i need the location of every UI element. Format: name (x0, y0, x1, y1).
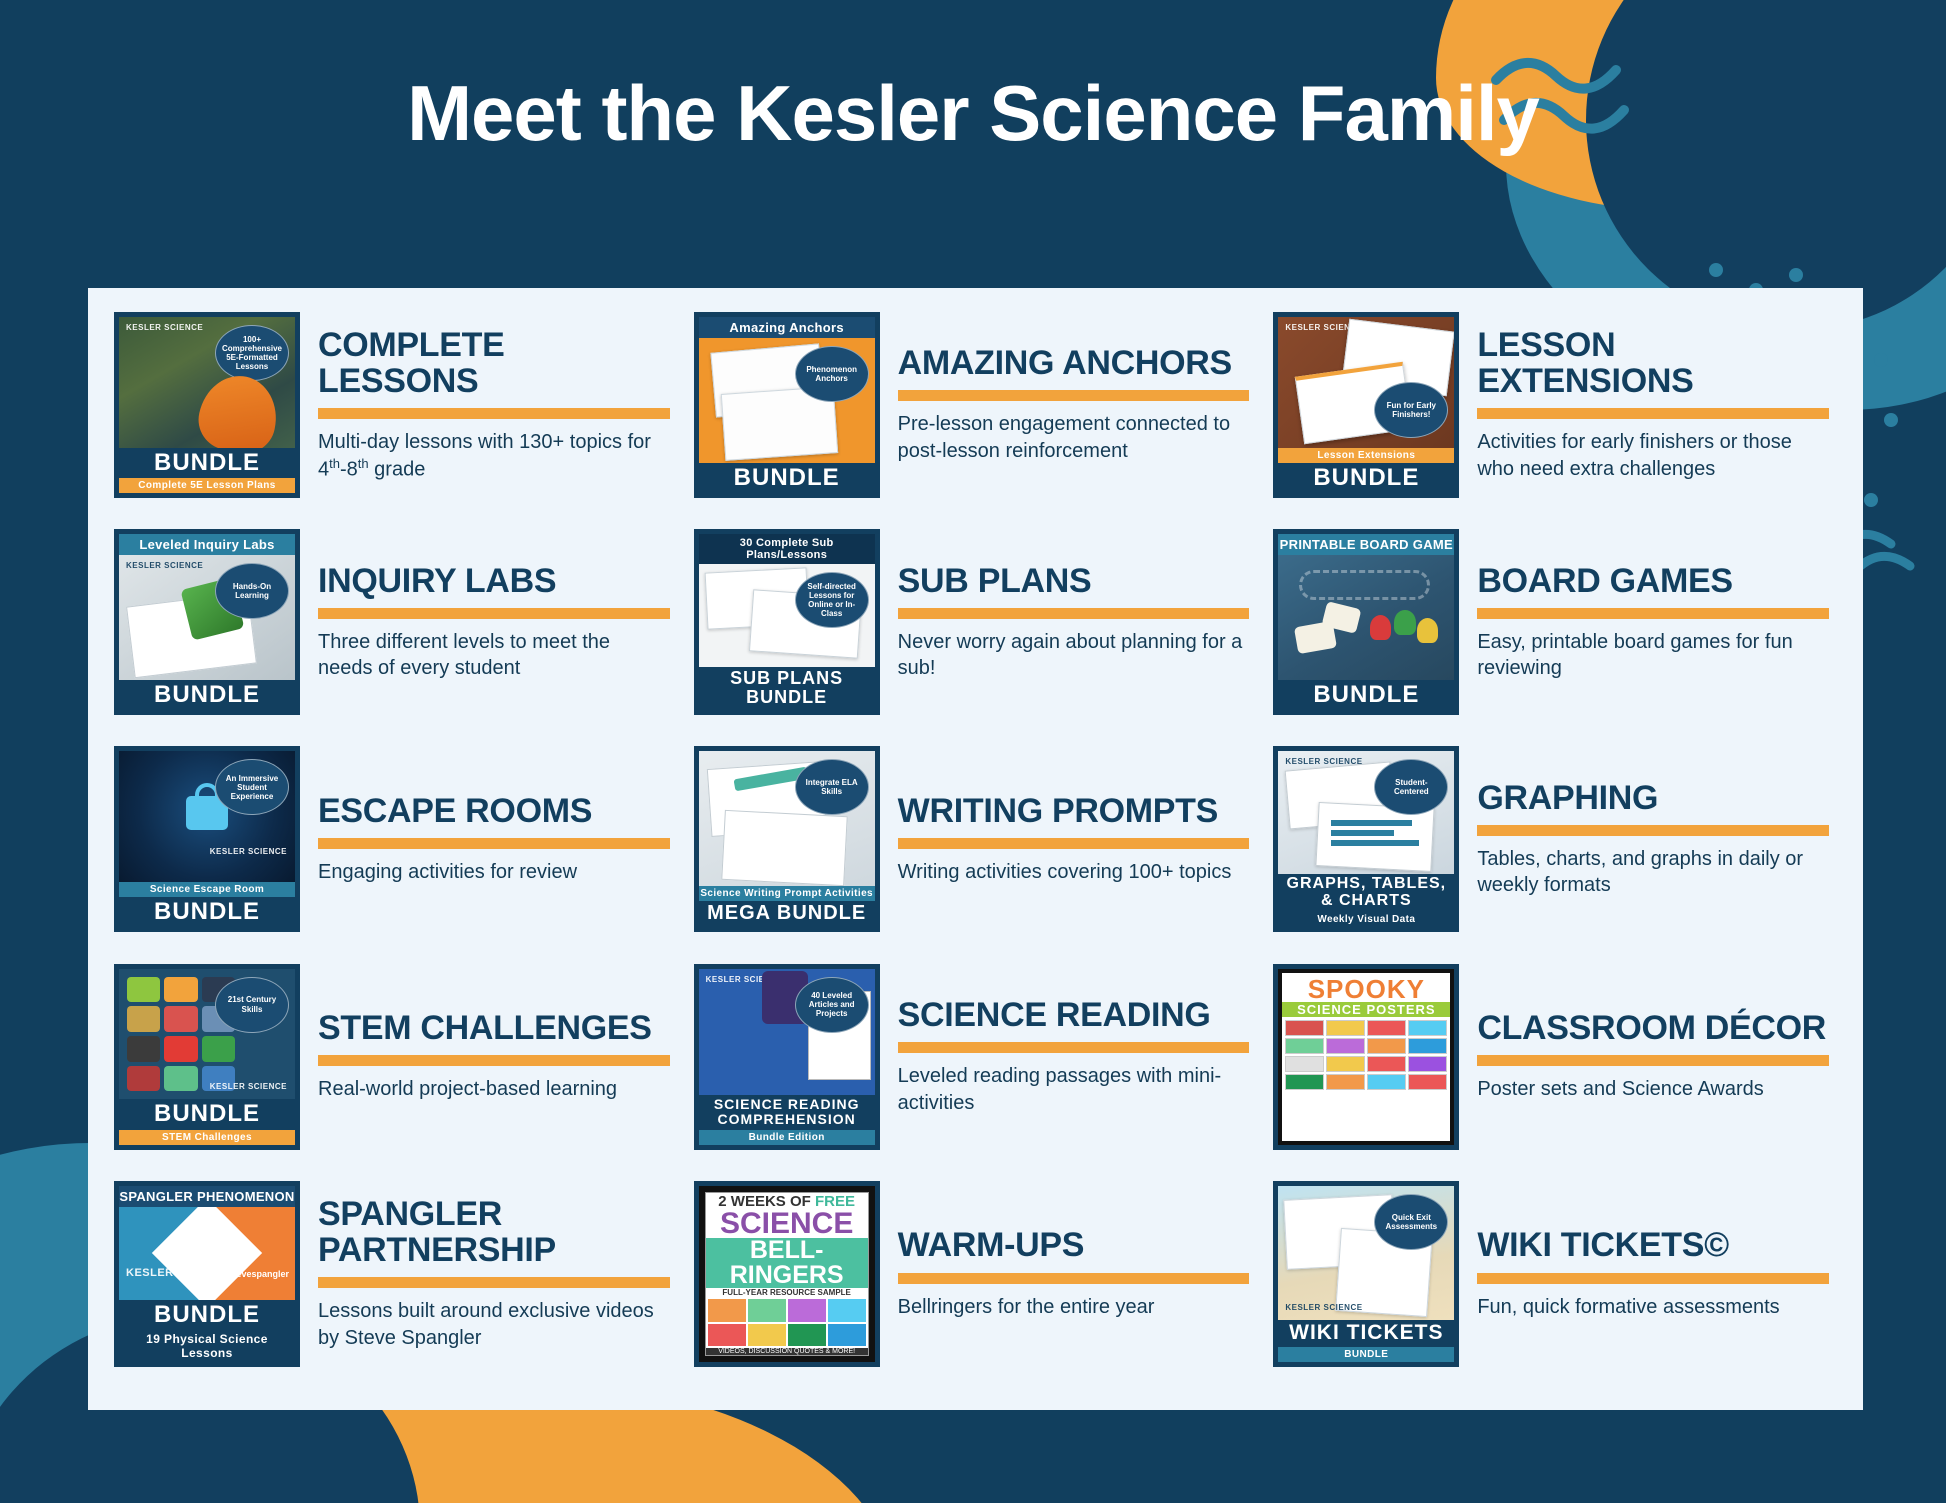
accent-rule (1477, 608, 1829, 619)
thumbnail-artwork: 21st Century Skills KESLER SCIENCE (119, 969, 295, 1100)
thumbnail-band-label: WIKI TICKETS (1278, 1320, 1454, 1347)
product-description: Multi-day lessons with 130+ topics for 4… (318, 429, 670, 484)
thumbnail-badge: 100+ Comprehensive 5E-Formatted Lessons (215, 325, 289, 381)
product-item-classroom-decor[interactable]: SPOOKY SCIENCE POSTERS CLASSROOM DÉCOR (1269, 958, 1833, 1175)
thumbnail-artwork: Integrate ELA Skills (699, 751, 875, 886)
thumbnail-band-label: BUNDLE (119, 897, 295, 927)
thumbnail-artwork (1278, 555, 1454, 680)
thumbnail-band-label: BUNDLE (1278, 463, 1454, 493)
thumbnail-band-label: MEGA BUNDLE (699, 901, 875, 927)
thumbnail-artwork: Phenomenon Anchors (699, 338, 875, 463)
product-item-complete-lessons[interactable]: KESLER SCIENCE 100+ Comprehensive 5E-For… (110, 306, 674, 523)
thumbnail-badge: Hands-On Learning (215, 563, 289, 619)
thumbnail-badge: 21st Century Skills (215, 977, 289, 1033)
thumbnail-badge: Self-directed Lessons for Online or In-C… (795, 572, 869, 628)
product-description: Three different levels to meet the needs… (318, 629, 670, 682)
kesler-science-logo-icon: KESLER SCIENCE (210, 848, 287, 856)
accent-rule (318, 1277, 670, 1288)
product-title: INQUIRY LABS (318, 563, 670, 599)
product-text: WIKI TICKETS© Fun, quick formative asses… (1477, 1181, 1829, 1367)
product-grid: KESLER SCIENCE 100+ Comprehensive 5E-For… (88, 288, 1863, 1410)
product-item-inquiry-labs[interactable]: Leveled Inquiry Labs KESLER SCIENCE Hand… (110, 523, 674, 740)
accent-rule (318, 838, 670, 849)
product-description: Fun, quick formative assessments (1477, 1294, 1829, 1321)
product-family-panel: KESLER SCIENCE 100+ Comprehensive 5E-For… (88, 288, 1863, 1410)
thumbnail-band-label: BUNDLE (1278, 680, 1454, 710)
product-item-writing-prompts[interactable]: Integrate ELA Skills Science Writing Pro… (690, 740, 1254, 957)
accent-rule (898, 390, 1250, 401)
thumbnail-band-label: BUNDLE (119, 680, 295, 710)
thumbnail-badge: An Immersive Student Experience (215, 759, 289, 815)
thumbnail-artwork: An Immersive Student Experience KESLER S… (119, 751, 295, 882)
product-title: SPANGLER PARTNERSHIP (318, 1196, 670, 1268)
product-item-board-games[interactable]: PRINTABLE BOARD GAME BUNDLE BOARD GAMES … (1269, 523, 1833, 740)
product-title: WRITING PROMPTS (898, 793, 1250, 829)
thumbnail-artwork: KESLER SCIENCE Student-Centered (1278, 751, 1454, 873)
thumbnail-warm-ups[interactable]: 2 WEEKS OF FREE SCIENCE BELL-RINGERS FUL… (694, 1181, 880, 1367)
product-title: CLASSROOM DÉCOR (1477, 1010, 1829, 1046)
accent-rule (898, 608, 1250, 619)
thumbnail-board-games[interactable]: PRINTABLE BOARD GAME BUNDLE (1273, 529, 1459, 715)
product-title: GRAPHING (1477, 780, 1829, 816)
product-description: Poster sets and Science Awards (1477, 1076, 1829, 1103)
accent-rule (318, 608, 670, 619)
thumbnail-sub-label: Lesson Extensions (1278, 448, 1454, 463)
product-description: Lessons built around exclusive videos by… (318, 1298, 670, 1351)
thumbnail-sub-label: Weekly Visual Data (1278, 912, 1454, 927)
product-text: ESCAPE ROOMS Engaging activities for rev… (318, 746, 670, 932)
accent-rule (898, 1273, 1250, 1284)
thumbnail-writing-prompts[interactable]: Integrate ELA Skills Science Writing Pro… (694, 746, 880, 932)
thumbnail-wiki-tickets[interactable]: Quick Exit Assessments KESLER SCIENCE WI… (1273, 1181, 1459, 1367)
thumbnail-artwork: Quick Exit Assessments KESLER SCIENCE (1278, 1186, 1454, 1320)
kesler-science-logo-icon: KESLER SCIENCE (126, 324, 203, 332)
thumbnail-sub-label: 19 Physical Science Lessons (119, 1330, 295, 1362)
product-item-graphing[interactable]: KESLER SCIENCE Student-Centered GRAPHS, … (1269, 740, 1833, 957)
thumbnail-sub-label: BUNDLE (1278, 1347, 1454, 1362)
product-title: AMAZING ANCHORS (898, 345, 1250, 381)
thumbnail-artwork: Self-directed Lessons for Online or In-C… (699, 564, 875, 667)
thumbnail-spangler-partnership[interactable]: SPANGLER PHENOMENON KESLER SCIENCE steve… (114, 1181, 300, 1367)
product-title: WIKI TICKETS© (1477, 1227, 1829, 1263)
product-title: LESSON EXTENSIONS (1477, 327, 1829, 399)
product-title: ESCAPE ROOMS (318, 793, 670, 829)
product-description: Tables, charts, and graphs in daily or w… (1477, 846, 1829, 899)
product-item-warm-ups[interactable]: 2 WEEKS OF FREE SCIENCE BELL-RINGERS FUL… (690, 1175, 1254, 1392)
thumbnail-band-label: GRAPHS, TABLES, & CHARTS (1278, 874, 1454, 913)
thumbnail-badge: Integrate ELA Skills (795, 759, 869, 815)
thumbnail-topbar-label: Leveled Inquiry Labs (119, 534, 295, 555)
product-text: WRITING PROMPTS Writing activities cover… (898, 746, 1250, 932)
product-description: Engaging activities for review (318, 859, 670, 886)
bellringer-line-5: VIDEOS, DISCUSSION QUOTES & MORE! (706, 1348, 868, 1355)
product-description: Activities for early finishers or those … (1477, 429, 1829, 482)
thumbnail-topbar-label: PRINTABLE BOARD GAME (1278, 534, 1454, 555)
product-item-amazing-anchors[interactable]: Amazing Anchors Phenomenon Anchors BUNDL… (690, 306, 1254, 523)
product-item-stem-challenges[interactable]: 21st Century Skills KESLER SCIENCE BUNDL… (110, 958, 674, 1175)
product-description: Pre-lesson engagement connected to post-… (898, 411, 1250, 464)
thumbnail-topbar-label: 30 Complete Sub Plans/Lessons (699, 534, 875, 564)
product-text: SUB PLANS Never worry again about planni… (898, 529, 1250, 715)
kesler-science-logo-icon: KESLER SCIENCE (1285, 1304, 1362, 1312)
thumbnail-stem-challenges[interactable]: 21st Century Skills KESLER SCIENCE BUNDL… (114, 964, 300, 1150)
product-item-spangler-partnership[interactable]: SPANGLER PHENOMENON KESLER SCIENCE steve… (110, 1175, 674, 1392)
thumbnail-escape-rooms[interactable]: An Immersive Student Experience KESLER S… (114, 746, 300, 932)
product-text: SPANGLER PARTNERSHIP Lessons built aroun… (318, 1181, 670, 1367)
product-text: COMPLETE LESSONS Multi-day lessons with … (318, 312, 670, 498)
product-description: Never worry again about planning for a s… (898, 629, 1250, 682)
product-text: AMAZING ANCHORS Pre-lesson engagement co… (898, 312, 1250, 498)
accent-rule (1477, 1055, 1829, 1066)
diamond-shape-icon (152, 1207, 262, 1300)
product-title: SCIENCE READING (898, 997, 1250, 1033)
product-item-sub-plans[interactable]: 30 Complete Sub Plans/Lessons Self-direc… (690, 523, 1254, 740)
page-title: Meet the Kesler Science Family (0, 68, 1946, 159)
desc-sup-2: th (358, 456, 369, 471)
thumbnail-band-label: BUNDLE (119, 1099, 295, 1129)
bellringer-line-3: BELL-RINGERS (706, 1238, 868, 1288)
decoration-blob-navy-top-right (1586, 0, 1946, 330)
product-description: Writing activities covering 100+ topics (898, 859, 1250, 886)
product-text: CLASSROOM DÉCOR Poster sets and Science … (1477, 964, 1829, 1150)
thumbnail-inquiry-labs[interactable]: Leveled Inquiry Labs KESLER SCIENCE Hand… (114, 529, 300, 715)
thumbnail-sub-label: STEM Challenges (119, 1130, 295, 1145)
thumbnail-badge: 40 Leveled Articles and Projects (795, 977, 869, 1033)
product-item-lesson-extensions[interactable]: KESLER SCIENCE Fun for Early Finishers! … (1269, 306, 1833, 523)
thumbnail-sub-plans[interactable]: 30 Complete Sub Plans/Lessons Self-direc… (694, 529, 880, 715)
thumbnail-badge: Fun for Early Finishers! (1374, 382, 1448, 438)
thumbnail-band-label: BUNDLE (119, 1300, 295, 1330)
thumbnail-artwork (1282, 1017, 1450, 1141)
product-text: SCIENCE READING Leveled reading passages… (898, 964, 1250, 1150)
thumbnail-amazing-anchors[interactable]: Amazing Anchors Phenomenon Anchors BUNDL… (694, 312, 880, 498)
product-text: INQUIRY LABS Three different levels to m… (318, 529, 670, 715)
thumbnail-topbar-label: Amazing Anchors (699, 317, 875, 338)
thumbnail-band-label: BUNDLE (119, 448, 295, 478)
thumbnail-artwork: KESLER SCIENCE 100+ Comprehensive 5E-For… (119, 317, 295, 448)
thumbnail-lesson-extensions[interactable]: KESLER SCIENCE Fun for Early Finishers! … (1273, 312, 1459, 498)
accent-rule (318, 1055, 670, 1066)
thumbnail-band-label: SUB PLANS BUNDLE (699, 667, 875, 710)
desc-sup-1: th (329, 456, 340, 471)
poster-subtitle: SCIENCE POSTERS (1282, 1002, 1450, 1017)
product-description: Leveled reading passages with mini-activ… (898, 1063, 1250, 1116)
kesler-science-logo-icon: KESLER SCIENCE (210, 1083, 287, 1091)
product-title: STEM CHALLENGES (318, 1010, 670, 1046)
product-item-science-reading[interactable]: KESLER SCIENCE 40 Leveled Articles and P… (690, 958, 1254, 1175)
bellringer-line-4: FULL-YEAR RESOURCE SAMPLE (706, 1288, 868, 1297)
product-description: Easy, printable board games for fun revi… (1477, 629, 1829, 682)
thumbnail-badge: Quick Exit Assessments (1374, 1194, 1448, 1250)
kesler-science-logo-icon: KESLER SCIENCE (126, 562, 203, 570)
thumbnail-band-label: BUNDLE (699, 463, 875, 493)
kesler-science-logo-icon: KESLER SCIENCE (126, 1268, 230, 1279)
thumbnail-science-reading[interactable]: KESLER SCIENCE 40 Leveled Articles and P… (694, 964, 880, 1150)
product-description: Real-world project-based learning (318, 1076, 670, 1103)
thumbnail-sub-label: Science Escape Room (119, 882, 295, 897)
thumbnail-artwork: KESLER SCIENCE stevespangler (119, 1207, 295, 1300)
product-text: LESSON EXTENSIONS Activities for early f… (1477, 312, 1829, 498)
product-text: BOARD GAMES Easy, printable board games … (1477, 529, 1829, 715)
accent-rule (1477, 825, 1829, 836)
thumbnail-sub-label: Science Writing Prompt Activities (699, 886, 875, 901)
bellringer-line-2: SCIENCE (706, 1210, 868, 1239)
accent-rule (318, 408, 670, 419)
product-text: STEM CHALLENGES Real-world project-based… (318, 964, 670, 1150)
poster-title: SPOOKY (1282, 973, 1450, 1002)
product-title: COMPLETE LESSONS (318, 327, 670, 399)
thumbnail-badge: Phenomenon Anchors (795, 346, 869, 402)
product-title: WARM-UPS (898, 1227, 1250, 1263)
thumbnail-sub-label: Bundle Edition (699, 1130, 875, 1145)
thumbnail-artwork: KESLER SCIENCE Hands-On Learning (119, 555, 295, 680)
product-item-wiki-tickets[interactable]: Quick Exit Assessments KESLER SCIENCE WI… (1269, 1175, 1833, 1392)
thumbnail-artwork: KESLER SCIENCE 40 Leveled Articles and P… (699, 969, 875, 1096)
product-text: GRAPHING Tables, charts, and graphs in d… (1477, 746, 1829, 932)
product-item-escape-rooms[interactable]: An Immersive Student Experience KESLER S… (110, 740, 674, 957)
desc-part-2: -8 (340, 459, 358, 481)
accent-rule (898, 1042, 1250, 1053)
thumbnail-complete-lessons[interactable]: KESLER SCIENCE 100+ Comprehensive 5E-For… (114, 312, 300, 498)
thumbnail-sub-label: Complete 5E Lesson Plans (119, 478, 295, 493)
product-text: WARM-UPS Bellringers for the entire year (898, 1181, 1250, 1367)
thumbnail-badge: Student-Centered (1374, 759, 1448, 815)
thumbnail-topbar-label: SPANGLER PHENOMENON (119, 1186, 295, 1207)
accent-rule (1477, 1273, 1829, 1284)
bellringer-sample-grid (706, 1297, 868, 1348)
accent-rule (898, 838, 1250, 849)
desc-part-3: grade (369, 459, 426, 481)
thumbnail-graphing[interactable]: KESLER SCIENCE Student-Centered GRAPHS, … (1273, 746, 1459, 932)
thumbnail-classroom-decor[interactable]: SPOOKY SCIENCE POSTERS (1273, 964, 1459, 1150)
accent-rule (1477, 408, 1829, 419)
thumbnail-artwork: KESLER SCIENCE Fun for Early Finishers! (1278, 317, 1454, 448)
product-title: BOARD GAMES (1477, 563, 1829, 599)
product-title: SUB PLANS (898, 563, 1250, 599)
thumbnail-band-label: SCIENCE READING COMPREHENSION (699, 1095, 875, 1129)
partner-logo-label: stevespangler (228, 1269, 289, 1279)
product-description: Bellringers for the entire year (898, 1294, 1250, 1321)
